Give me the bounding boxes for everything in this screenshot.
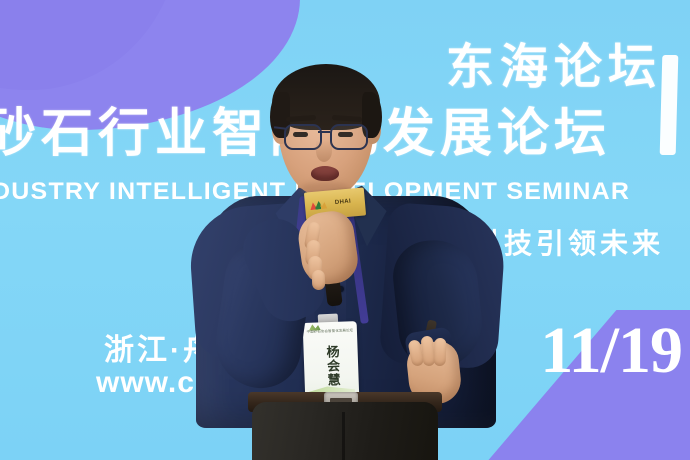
conference-photo: 东海论坛 砂石行业智能化发展论坛 DUSTRY INTELLIGENT DEVE…	[0, 0, 690, 460]
nose	[316, 140, 332, 162]
trouser-fly-seam	[342, 412, 345, 460]
name-badge: 中国砂石协会智能化发展论坛 杨会慧	[303, 321, 360, 403]
trousers	[252, 402, 438, 460]
finger	[434, 338, 447, 366]
mic-flag-logo-icon	[310, 200, 328, 210]
speaker-figure: 中国砂石协会智能化发展论坛 杨会慧 DHAI	[0, 0, 690, 460]
eyeglasses-bridge	[318, 131, 330, 133]
eyeglasses-lens-right	[330, 124, 368, 150]
mic-flag-text: DHAI	[335, 199, 352, 206]
badge-header-text: 中国砂石协会智能化发展论坛	[303, 327, 357, 334]
finger	[312, 270, 326, 290]
mouth-open	[311, 166, 339, 181]
badge-name-text: 杨会慧	[322, 344, 340, 389]
